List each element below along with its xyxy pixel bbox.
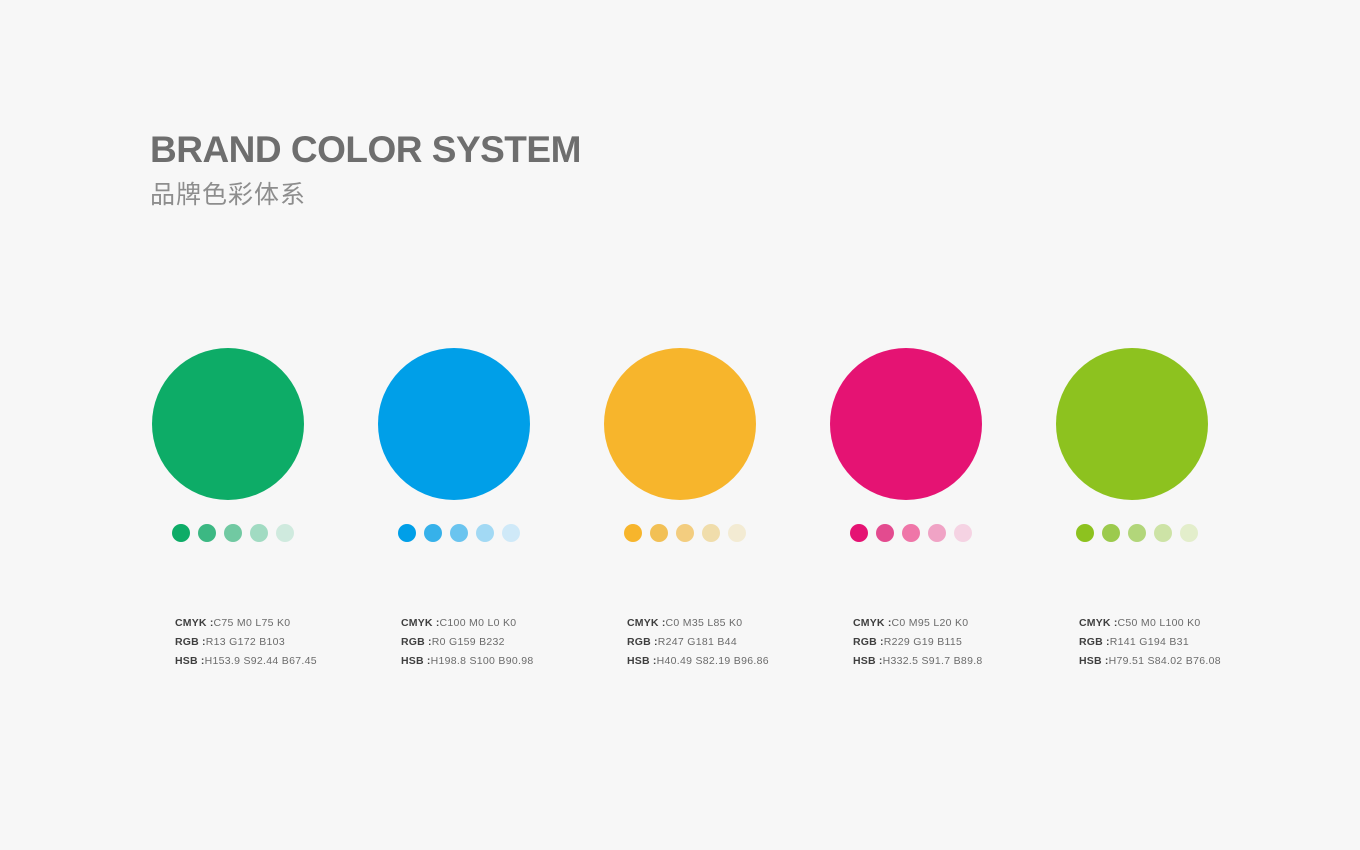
spec-label-hsb: HSB : (1079, 655, 1109, 667)
tint-dot-lime-4[interactable] (1154, 524, 1172, 542)
color-palette-grid: CMYK :C75 M0 L75 K0RGB :R13 G172 B103HSB… (152, 348, 1212, 671)
color-swatch-blue: CMYK :C100 M0 L0 K0RGB :R0 G159 B232HSB … (378, 348, 530, 671)
tint-dot-magenta-1[interactable] (850, 524, 868, 542)
primary-color-circle-amber[interactable] (604, 348, 756, 500)
spec-label-cmyk: CMYK : (853, 617, 892, 629)
spec-label-rgb: RGB : (1079, 636, 1110, 648)
tint-dot-blue-1[interactable] (398, 524, 416, 542)
spec-label-cmyk: CMYK : (175, 617, 214, 629)
page-header: BRAND COLOR SYSTEM 品牌色彩体系 (150, 128, 581, 212)
tint-dot-blue-3[interactable] (450, 524, 468, 542)
spec-label-hsb: HSB : (627, 655, 657, 667)
spec-label-rgb: RGB : (175, 636, 206, 648)
tint-scale-lime (1076, 524, 1198, 542)
color-swatch-magenta: CMYK :C0 M95 L20 K0RGB :R229 G19 B115HSB… (830, 348, 982, 671)
spec-line-cmyk: CMYK :C75 M0 L75 K0 (175, 614, 317, 633)
spec-value-rgb: R247 G181 B44 (658, 636, 737, 648)
tint-dot-amber-1[interactable] (624, 524, 642, 542)
color-spec-amber: CMYK :C0 M35 L85 K0RGB :R247 G181 B44HSB… (627, 614, 769, 671)
tint-dot-amber-4[interactable] (702, 524, 720, 542)
spec-line-rgb: RGB :R13 G172 B103 (175, 633, 317, 652)
spec-value-rgb: R229 G19 B115 (884, 636, 962, 648)
tint-dot-blue-5[interactable] (502, 524, 520, 542)
spec-value-hsb: H79.51 S84.02 B76.08 (1109, 655, 1221, 667)
spec-label-cmyk: CMYK : (401, 617, 440, 629)
tint-dot-blue-4[interactable] (476, 524, 494, 542)
tint-dot-green-2[interactable] (198, 524, 216, 542)
color-swatch-lime: CMYK :C50 M0 L100 K0RGB :R141 G194 B31HS… (1056, 348, 1208, 671)
spec-value-cmyk: C0 M95 L20 K0 (892, 617, 969, 629)
tint-dot-lime-2[interactable] (1102, 524, 1120, 542)
tint-dot-lime-1[interactable] (1076, 524, 1094, 542)
spec-line-cmyk: CMYK :C0 M95 L20 K0 (853, 614, 983, 633)
spec-value-cmyk: C50 M0 L100 K0 (1118, 617, 1201, 629)
color-swatch-green: CMYK :C75 M0 L75 K0RGB :R13 G172 B103HSB… (152, 348, 304, 671)
tint-dot-green-5[interactable] (276, 524, 294, 542)
spec-line-cmyk: CMYK :C100 M0 L0 K0 (401, 614, 534, 633)
spec-value-hsb: H153.9 S92.44 B67.45 (205, 655, 317, 667)
spec-line-rgb: RGB :R141 G194 B31 (1079, 633, 1221, 652)
spec-line-hsb: HSB :H79.51 S84.02 B76.08 (1079, 652, 1221, 671)
tint-dot-amber-5[interactable] (728, 524, 746, 542)
spec-label-hsb: HSB : (401, 655, 431, 667)
tint-dot-amber-2[interactable] (650, 524, 668, 542)
tint-scale-blue (398, 524, 520, 542)
primary-color-circle-lime[interactable] (1056, 348, 1208, 500)
tint-dot-amber-3[interactable] (676, 524, 694, 542)
spec-label-hsb: HSB : (853, 655, 883, 667)
tint-scale-magenta (850, 524, 972, 542)
tint-dot-green-4[interactable] (250, 524, 268, 542)
page-title: BRAND COLOR SYSTEM (150, 128, 581, 172)
tint-dot-magenta-5[interactable] (954, 524, 972, 542)
spec-value-cmyk: C100 M0 L0 K0 (440, 617, 517, 629)
spec-line-cmyk: CMYK :C50 M0 L100 K0 (1079, 614, 1221, 633)
spec-line-hsb: HSB :H153.9 S92.44 B67.45 (175, 652, 317, 671)
spec-value-hsb: H40.49 S82.19 B96.86 (657, 655, 769, 667)
tint-scale-amber (624, 524, 746, 542)
tint-dot-blue-2[interactable] (424, 524, 442, 542)
primary-color-circle-blue[interactable] (378, 348, 530, 500)
spec-line-rgb: RGB :R0 G159 B232 (401, 633, 534, 652)
tint-dot-green-3[interactable] (224, 524, 242, 542)
spec-line-hsb: HSB :H40.49 S82.19 B96.86 (627, 652, 769, 671)
tint-dot-magenta-4[interactable] (928, 524, 946, 542)
color-spec-blue: CMYK :C100 M0 L0 K0RGB :R0 G159 B232HSB … (401, 614, 534, 671)
spec-value-rgb: R13 G172 B103 (206, 636, 285, 648)
tint-dot-lime-5[interactable] (1180, 524, 1198, 542)
spec-label-rgb: RGB : (627, 636, 658, 648)
color-spec-lime: CMYK :C50 M0 L100 K0RGB :R141 G194 B31HS… (1079, 614, 1221, 671)
color-spec-magenta: CMYK :C0 M95 L20 K0RGB :R229 G19 B115HSB… (853, 614, 983, 671)
spec-line-cmyk: CMYK :C0 M35 L85 K0 (627, 614, 769, 633)
spec-label-rgb: RGB : (853, 636, 884, 648)
primary-color-circle-green[interactable] (152, 348, 304, 500)
spec-label-rgb: RGB : (401, 636, 432, 648)
spec-line-rgb: RGB :R247 G181 B44 (627, 633, 769, 652)
primary-color-circle-magenta[interactable] (830, 348, 982, 500)
spec-label-cmyk: CMYK : (627, 617, 666, 629)
spec-line-hsb: HSB :H332.5 S91.7 B89.8 (853, 652, 983, 671)
tint-dot-magenta-2[interactable] (876, 524, 894, 542)
spec-line-hsb: HSB :H198.8 S100 B90.98 (401, 652, 534, 671)
spec-value-cmyk: C75 M0 L75 K0 (214, 617, 291, 629)
tint-dot-green-1[interactable] (172, 524, 190, 542)
spec-value-rgb: R0 G159 B232 (432, 636, 505, 648)
spec-value-cmyk: C0 M35 L85 K0 (666, 617, 743, 629)
page-subtitle: 品牌色彩体系 (150, 178, 581, 212)
spec-value-hsb: H198.8 S100 B90.98 (431, 655, 534, 667)
spec-value-rgb: R141 G194 B31 (1110, 636, 1189, 648)
tint-dot-lime-3[interactable] (1128, 524, 1146, 542)
tint-scale-green (172, 524, 294, 542)
spec-label-cmyk: CMYK : (1079, 617, 1118, 629)
spec-label-hsb: HSB : (175, 655, 205, 667)
color-spec-green: CMYK :C75 M0 L75 K0RGB :R13 G172 B103HSB… (175, 614, 317, 671)
spec-line-rgb: RGB :R229 G19 B115 (853, 633, 983, 652)
color-swatch-amber: CMYK :C0 M35 L85 K0RGB :R247 G181 B44HSB… (604, 348, 756, 671)
tint-dot-magenta-3[interactable] (902, 524, 920, 542)
spec-value-hsb: H332.5 S91.7 B89.8 (883, 655, 983, 667)
